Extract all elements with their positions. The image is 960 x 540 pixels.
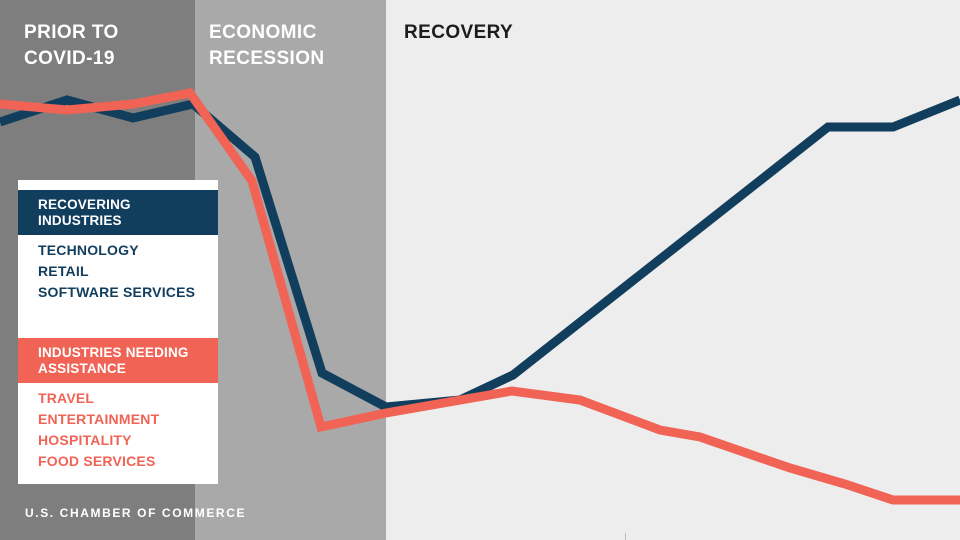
- legend-items-recovering: TECHNOLOGY RETAIL SOFTWARE SERVICES: [18, 235, 218, 302]
- legend-item-software-services: SOFTWARE SERVICES: [38, 282, 210, 303]
- legend-item-retail: RETAIL: [38, 261, 210, 282]
- chart-legend: RECOVERING INDUSTRIES TECHNOLOGY RETAIL …: [18, 180, 218, 484]
- legend-items-assistance: TRAVEL ENTERTAINMENT HOSPITALITY FOOD SE…: [18, 383, 218, 471]
- legend-header-industries-needing-assistance: INDUSTRIES NEEDING ASSISTANCE: [18, 338, 218, 383]
- legend-item-food-services: FOOD SERVICES: [38, 451, 210, 472]
- infographic-chart: PRIOR TO COVID-19 ECONOMIC RECESSION REC…: [0, 0, 960, 540]
- legend-item-entertainment: ENTERTAINMENT: [38, 409, 210, 430]
- bottom-rule-mark: [625, 533, 626, 540]
- legend-item-hospitality: HOSPITALITY: [38, 430, 210, 451]
- attribution-text: U.S. CHAMBER OF COMMERCE: [25, 506, 246, 520]
- legend-item-technology: TECHNOLOGY: [38, 240, 210, 261]
- legend-divider-space: [18, 302, 218, 338]
- legend-header-recovering-industries: RECOVERING INDUSTRIES: [18, 190, 218, 235]
- legend-item-travel: TRAVEL: [38, 388, 210, 409]
